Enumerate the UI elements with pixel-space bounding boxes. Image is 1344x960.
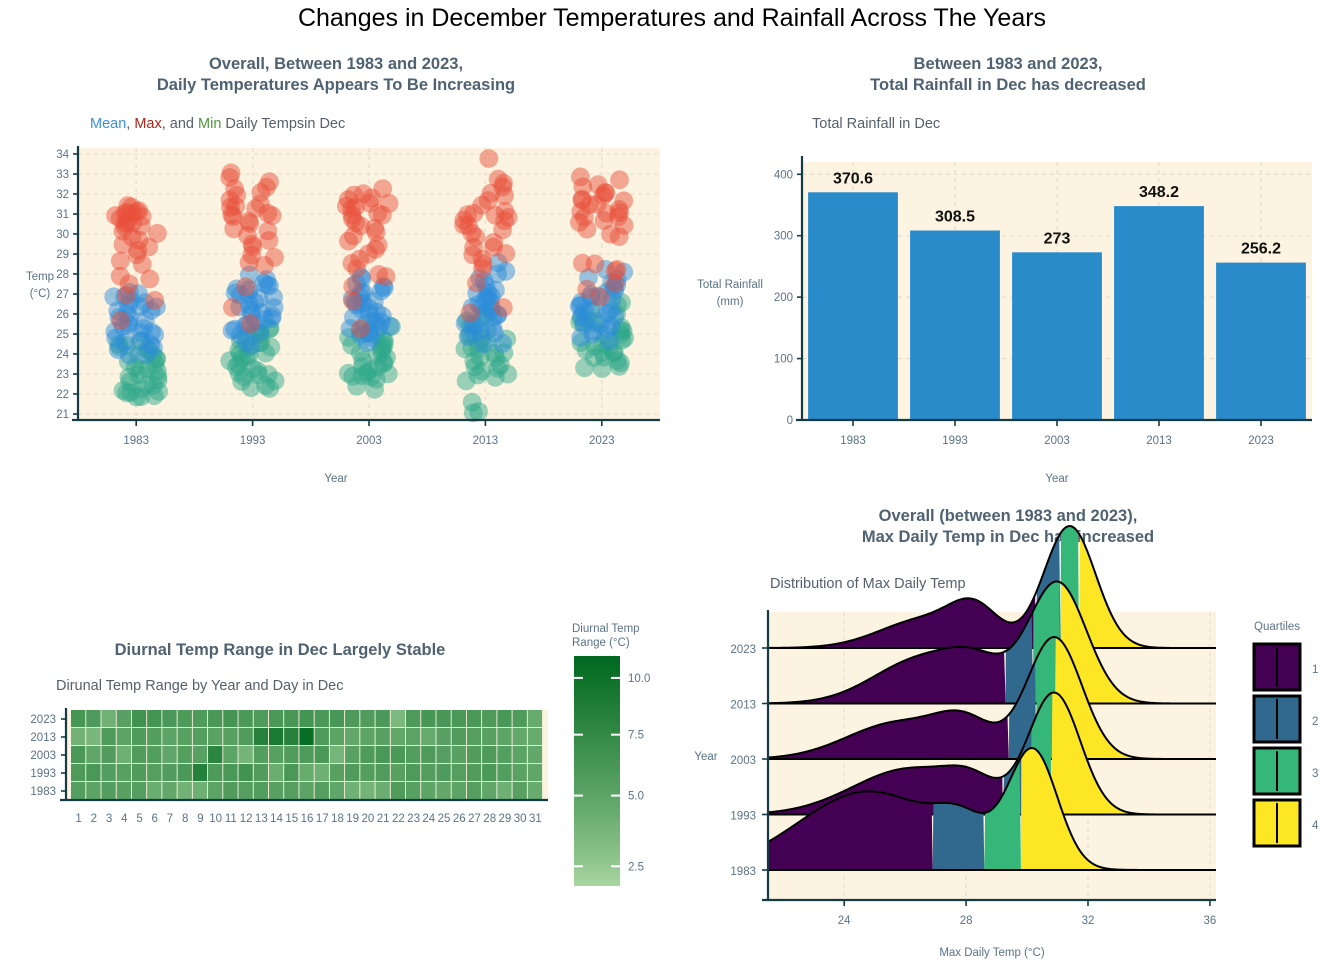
heatmap-x-axis-tick-label: 7: [167, 813, 173, 825]
heatmap-x-axis-tick-label: 14: [270, 813, 283, 825]
y-axis-tick-label: 31: [56, 209, 69, 221]
heatmap-chart[interactable]: 2023201320031993198312345678910111213141…: [0, 702, 560, 862]
heatmap-cell: [147, 728, 161, 745]
heatmap-x-axis-tick-label: 23: [407, 813, 420, 825]
quartile-legend-label: 1: [1312, 664, 1318, 676]
scatter-point-min: [486, 368, 505, 387]
heatmap-cell: [299, 782, 313, 799]
scatter-point-mean: [242, 336, 261, 355]
scatter-point-min: [127, 388, 146, 407]
heatmap-cell: [86, 710, 100, 727]
heatmap-x-axis-tick-label: 1: [75, 813, 81, 825]
heatmap-cell: [71, 782, 85, 799]
bar-value-label: 308.5: [935, 208, 975, 225]
x-axis-tick-label: 1993: [942, 435, 968, 447]
heatmap-x-axis-tick-label: 16: [301, 813, 314, 825]
heatmap-cell: [147, 710, 161, 727]
bar-value-label: 256.2: [1241, 241, 1281, 258]
heatmap-cell: [406, 746, 420, 763]
heatmap-x-axis-tick-label: 20: [362, 813, 375, 825]
scatter-point-min: [365, 380, 384, 399]
heatmap-cell: [330, 710, 344, 727]
heatmap-cell: [238, 764, 252, 781]
bar-y-axis-label: Total Rainfall: [697, 279, 763, 291]
x-axis-tick-label: 2023: [1248, 435, 1274, 447]
bar-value-label: 348.2: [1139, 184, 1179, 201]
scatter-point-max: [479, 149, 498, 168]
heatmap-cell: [117, 764, 131, 781]
bar-rect: [1216, 263, 1306, 420]
heatmap-cell: [71, 710, 85, 727]
x-axis-tick-label: 2003: [356, 435, 382, 447]
heatmap-cell: [162, 710, 176, 727]
scatter-point-max: [606, 274, 625, 293]
heatmap-cell: [269, 746, 283, 763]
heatmap-cell: [147, 746, 161, 763]
heatmap-cell: [406, 782, 420, 799]
heatmap-cell: [299, 728, 313, 745]
heatmap-x-axis-tick-label: 25: [438, 813, 451, 825]
heatmap-cell: [101, 746, 115, 763]
heatmap-cell: [360, 710, 374, 727]
heatmap-x-axis-tick-label: 28: [483, 813, 496, 825]
heatmap-cell: [406, 728, 420, 745]
heatmap-cell: [71, 728, 85, 745]
heatmap-cell: [178, 746, 192, 763]
quartiles-legend-title: Quartiles: [1254, 621, 1300, 633]
scatter-point-min: [457, 372, 476, 391]
heatmap-colorbar-legend[interactable]: Diurnal TempRange (°C)10.07.55.02.5: [572, 618, 672, 908]
heatmap-cell: [71, 764, 85, 781]
scatter-point-min: [242, 378, 261, 397]
heatmap-cell: [421, 746, 435, 763]
ridge-panel-subtitle: Distribution of Max Daily Temp: [770, 576, 966, 592]
heatmap-cell: [117, 710, 131, 727]
heatmap-x-axis-tick-label: 17: [316, 813, 329, 825]
ridge-y-axis-tick-label: 1993: [730, 811, 756, 823]
scatter-point-max: [140, 270, 159, 289]
heatmap-cell: [284, 728, 298, 745]
heatmap-x-axis-tick-label: 8: [182, 813, 188, 825]
heatmap-cell: [497, 746, 511, 763]
scatter-point-min: [347, 377, 366, 396]
scatter-y-axis-label: Temp: [26, 271, 54, 283]
subtitle-sep-2: , and: [162, 116, 198, 132]
heatmap-cell: [132, 782, 146, 799]
colorbar-title: Diurnal Temp: [572, 623, 640, 635]
heatmap-cell: [391, 764, 405, 781]
heatmap-cell: [269, 764, 283, 781]
heatmap-cell: [497, 782, 511, 799]
heatmap-cell: [330, 728, 344, 745]
scatter-point-max: [377, 267, 396, 286]
heatmap-y-axis-tick-label: 2013: [30, 732, 56, 744]
heatmap-x-axis-tick-label: 15: [285, 813, 298, 825]
heatmap-x-axis-tick-label: 30: [514, 813, 527, 825]
ridge-panel-title: Overall (between 1983 and 2023), Max Dai…: [722, 506, 1294, 548]
heatmap-cell: [528, 746, 542, 763]
subtitle-tail: Daily Tempsin Dec: [221, 116, 345, 132]
heatmap-x-axis-tick-label: 12: [240, 813, 253, 825]
bar-panel-subtitle: Total Rainfall in Dec: [812, 116, 940, 132]
ridge-y-axis-tick-label: 2023: [730, 644, 756, 656]
heatmap-cell: [360, 728, 374, 745]
heatmap-cell: [482, 728, 496, 745]
heatmap-cell: [284, 764, 298, 781]
y-axis-tick-label: 200: [774, 292, 793, 304]
scatter-point-max: [260, 231, 279, 250]
scatter-point-min: [610, 357, 629, 376]
heatmap-cell: [482, 710, 496, 727]
bar-rect: [1114, 206, 1204, 420]
ridge-y-axis-tick-label: 1983: [730, 866, 756, 878]
quartile-legend-label: 4: [1312, 820, 1319, 832]
y-axis-tick-label: 29: [56, 249, 69, 261]
ridge-y-axis-label: Year: [694, 751, 717, 763]
heatmap-cell: [376, 764, 390, 781]
scatter-point-min: [145, 386, 164, 405]
y-axis-tick-label: 23: [56, 369, 69, 381]
heatmap-cell: [254, 764, 268, 781]
panel-temperature-scatter: Overall, Between 1983 and 2023, Daily Te…: [0, 54, 672, 494]
heatmap-x-axis-tick-label: 21: [377, 813, 390, 825]
heatmap-cell: [208, 710, 222, 727]
x-axis-tick-label: 28: [960, 915, 973, 927]
colorbar-tick-label: 2.5: [628, 861, 644, 873]
scatter-panel-subtitle: Mean, Max, and Min Daily Tempsin Dec: [90, 116, 345, 132]
heatmap-cell: [360, 782, 374, 799]
heatmap-cell: [345, 764, 359, 781]
heatmap-cell: [86, 782, 100, 799]
bar-chart[interactable]: 370.6308.5273348.2256.201002003004001983…: [672, 140, 1344, 494]
scatter-y-axis-label-unit: (°C): [30, 288, 51, 300]
scatter-point-max: [344, 292, 363, 311]
heatmap-cell: [452, 746, 466, 763]
heatmap-cell: [436, 710, 450, 727]
scatter-point-max: [351, 319, 370, 338]
heatmap-cell: [315, 746, 329, 763]
y-axis-tick-label: 100: [774, 354, 793, 366]
heatmap-cell: [208, 746, 222, 763]
heatmap-cell: [421, 728, 435, 745]
heatmap-cell: [208, 764, 222, 781]
heatmap-cell: [345, 746, 359, 763]
heatmap-cell: [391, 728, 405, 745]
heatmap-x-axis-tick-label: 22: [392, 813, 405, 825]
colorbar-gradient: [574, 656, 620, 886]
heatmap-cell: [406, 764, 420, 781]
bar-rect: [808, 192, 898, 420]
heatmap-cell: [436, 782, 450, 799]
scatter-point-max: [339, 232, 358, 251]
heatmap-cell: [360, 746, 374, 763]
bar-x-axis-label: Year: [1045, 473, 1068, 485]
heatmap-cell: [376, 782, 390, 799]
heatmap-x-axis-tick-label: 31: [529, 813, 542, 825]
heatmap-cell: [101, 710, 115, 727]
heatmap-x-axis-tick-label: 29: [499, 813, 512, 825]
scatter-point-min: [260, 379, 279, 398]
heatmap-cell: [193, 782, 207, 799]
scatter-point-max: [591, 288, 610, 307]
x-axis-tick-label: 2003: [1044, 435, 1070, 447]
heatmap-cell: [86, 728, 100, 745]
heatmap-cell: [299, 746, 313, 763]
heatmap-cell: [452, 728, 466, 745]
heatmap-cell: [223, 728, 237, 745]
y-axis-tick-label: 34: [56, 149, 69, 161]
quartile-legend-label: 2: [1312, 716, 1318, 728]
scatter-point-max: [255, 256, 274, 275]
heatmap-cell: [421, 764, 435, 781]
heatmap-cell: [193, 710, 207, 727]
quartile-legend-label: 3: [1312, 768, 1318, 780]
scatter-point-max: [461, 304, 480, 323]
quartiles-legend[interactable]: Quartiles1234: [1232, 616, 1344, 876]
y-axis-tick-label: 21: [56, 409, 69, 421]
y-axis-tick-label: 400: [774, 169, 793, 181]
y-axis-tick-label: 25: [56, 329, 69, 341]
heatmap-cell: [208, 782, 222, 799]
heatmap-cell: [452, 782, 466, 799]
heatmap-cell: [71, 746, 85, 763]
heatmap-cell: [345, 782, 359, 799]
y-axis-tick-label: 24: [56, 349, 69, 361]
heatmap-cell: [147, 782, 161, 799]
heatmap-cell: [330, 764, 344, 781]
heatmap-x-axis-tick-label: 13: [255, 813, 268, 825]
heatmap-cell: [315, 710, 329, 727]
heatmap-y-axis-tick-label: 2023: [30, 714, 56, 726]
heatmap-cell: [391, 710, 405, 727]
heatmap-cell: [299, 710, 313, 727]
heatmap-cell: [238, 710, 252, 727]
heatmap-cell: [452, 764, 466, 781]
scatter-point-max: [236, 277, 255, 296]
y-axis-tick-label: 33: [56, 169, 69, 181]
heatmap-cell: [528, 782, 542, 799]
heatmap-cell: [193, 764, 207, 781]
heatmap-cell: [178, 728, 192, 745]
heatmap-x-axis-tick-label: 6: [152, 813, 158, 825]
y-axis-tick-label: 300: [774, 231, 793, 243]
heatmap-cell: [452, 710, 466, 727]
bar-panel-title: Between 1983 and 2023, Total Rainfall in…: [672, 54, 1344, 96]
heatmap-x-axis-tick-label: 5: [136, 813, 142, 825]
heatmap-cell: [482, 764, 496, 781]
heatmap-cell: [513, 728, 527, 745]
heatmap-cell: [132, 764, 146, 781]
scatter-point-max: [223, 298, 242, 317]
x-axis-tick-label: 24: [838, 915, 851, 927]
bar-rect: [1012, 252, 1102, 420]
scatter-point-max: [578, 220, 597, 239]
scatter-point-max: [241, 314, 260, 333]
heatmap-cell: [513, 746, 527, 763]
y-axis-tick-label: 30: [56, 229, 69, 241]
scatter-point-max: [610, 227, 629, 246]
y-axis-tick-label: 22: [56, 389, 69, 401]
scatter-point-max: [347, 259, 366, 278]
heatmap-cell: [86, 764, 100, 781]
heatmap-x-axis-tick-label: 24: [422, 813, 435, 825]
heatmap-cell: [391, 782, 405, 799]
scatter-point-mean: [120, 346, 139, 365]
ridgeline-chart[interactable]: 2023201320031993198324283236Max Daily Te…: [672, 600, 1232, 960]
heatmap-cell: [132, 746, 146, 763]
heatmap-cell: [162, 746, 176, 763]
x-axis-tick-label: 1983: [840, 435, 866, 447]
heatmap-x-axis-tick-label: 11: [225, 813, 237, 825]
scatter-point-mean: [137, 345, 156, 364]
heatmap-cell: [299, 764, 313, 781]
heatmap-cell: [254, 728, 268, 745]
heatmap-cell: [497, 710, 511, 727]
bar-value-label: 370.6: [833, 170, 873, 187]
heatmap-cell: [497, 728, 511, 745]
heatmap-cell: [467, 764, 481, 781]
heatmap-cell: [178, 764, 192, 781]
x-axis-tick-label: 36: [1204, 915, 1217, 927]
heatmap-cell: [132, 728, 146, 745]
heatmap-cell: [147, 764, 161, 781]
heatmap-cell: [254, 710, 268, 727]
heatmap-cell: [376, 710, 390, 727]
heatmap-cell: [482, 746, 496, 763]
heatmap-cell: [421, 782, 435, 799]
colorbar-tick-label: 5.0: [628, 791, 644, 803]
heatmap-x-axis-tick-label: 18: [331, 813, 344, 825]
heatmap-cell: [330, 746, 344, 763]
heatmap-cell: [269, 710, 283, 727]
heatmap-cell: [467, 746, 481, 763]
y-axis-tick-label: 32: [56, 189, 69, 201]
colorbar-tick-label: 10.0: [628, 673, 650, 685]
legend-mean-label: Mean: [90, 116, 126, 132]
heatmap-cell: [345, 710, 359, 727]
heatmap-cell: [193, 728, 207, 745]
scatter-point-min: [575, 358, 594, 377]
heatmap-y-axis-tick-label: 1983: [30, 786, 56, 798]
colorbar-title-unit: Range (°C): [572, 637, 630, 649]
heatmap-cell: [101, 728, 115, 745]
heatmap-x-axis-tick-label: 3: [106, 813, 112, 825]
heatmap-cell: [117, 728, 131, 745]
heatmap-cell: [513, 710, 527, 727]
y-axis-tick-label: 28: [56, 269, 69, 281]
heatmap-cell: [178, 782, 192, 799]
x-axis-tick-label: 2023: [589, 435, 615, 447]
heatmap-x-axis-tick-label: 2: [91, 813, 97, 825]
dashboard-title: Changes in December Temperatures and Rai…: [0, 4, 1344, 33]
bar-y-axis-label-unit: (mm): [717, 296, 744, 308]
scatter-point-mean: [474, 335, 493, 354]
heatmap-cell: [101, 782, 115, 799]
legend-min-label: Min: [198, 116, 221, 132]
x-axis-tick-label: 2013: [1146, 435, 1172, 447]
heatmap-y-axis-tick-label: 1993: [30, 768, 56, 780]
scatter-point-max: [586, 255, 605, 274]
heatmap-cell: [284, 710, 298, 727]
heatmap-cell: [467, 782, 481, 799]
heatmap-cell: [436, 764, 450, 781]
scatter-plot[interactable]: 2122232425262728293031323334198319932003…: [0, 140, 672, 494]
heatmap-cell: [436, 746, 450, 763]
scatter-point-mean: [571, 328, 590, 347]
heatmap-y-axis-tick-label: 2003: [30, 750, 56, 762]
heatmap-x-axis-tick-label: 26: [453, 813, 466, 825]
heatmap-cell: [284, 782, 298, 799]
ridge-x-axis-label: Max Daily Temp (°C): [939, 947, 1045, 959]
scatter-x-axis-label: Year: [324, 473, 347, 485]
heatmap-cell: [315, 782, 329, 799]
heatmap-cell: [193, 746, 207, 763]
heatmap-cell: [421, 710, 435, 727]
heatmap-cell: [101, 764, 115, 781]
heatmap-cell: [467, 728, 481, 745]
heatmap-cell: [162, 728, 176, 745]
heatmap-x-axis-tick-label: 27: [468, 813, 481, 825]
heatmap-cell: [162, 764, 176, 781]
heatmap-cell: [330, 782, 344, 799]
bar-value-label: 273: [1044, 230, 1071, 247]
heatmap-cell: [117, 782, 131, 799]
heatmap-cell: [254, 782, 268, 799]
heatmap-cell: [376, 746, 390, 763]
heatmap-cell: [406, 710, 420, 727]
heatmap-x-axis-tick-label: 10: [209, 813, 222, 825]
heatmap-cell: [223, 710, 237, 727]
heatmap-cell: [376, 728, 390, 745]
scatter-point-min: [593, 359, 612, 378]
legend-max-label: Max: [134, 116, 161, 132]
heatmap-cell: [178, 710, 192, 727]
scatter-point-max: [467, 274, 486, 293]
heatmap-cell: [467, 710, 481, 727]
heatmap-cell: [436, 728, 450, 745]
x-axis-tick-label: 32: [1082, 915, 1095, 927]
y-axis-tick-label: 26: [56, 309, 69, 321]
heatmap-cell: [528, 764, 542, 781]
heatmap-cell: [315, 728, 329, 745]
panel-maxtemp-ridgeline: Overall (between 1983 and 2023), Max Dai…: [672, 506, 1344, 960]
x-axis-tick-label: 1993: [240, 435, 266, 447]
heatmap-cell: [223, 746, 237, 763]
heatmap-cell: [513, 764, 527, 781]
heatmap-cell: [528, 710, 542, 727]
scatter-point-max: [496, 244, 515, 263]
colorbar-tick-label: 7.5: [628, 730, 644, 742]
heatmap-cell: [345, 728, 359, 745]
heatmap-cell: [223, 764, 237, 781]
scatter-panel-title: Overall, Between 1983 and 2023, Daily Te…: [0, 54, 672, 96]
heatmap-cell: [497, 764, 511, 781]
heatmap-cell: [391, 746, 405, 763]
heatmap-x-axis-tick-label: 4: [121, 813, 128, 825]
y-axis-tick-label: 0: [787, 415, 793, 427]
heatmap-cell: [284, 746, 298, 763]
scatter-point-max: [117, 286, 136, 305]
heatmap-cell: [315, 764, 329, 781]
bar-rect: [910, 231, 1000, 421]
heatmap-cell: [269, 728, 283, 745]
scatter-point-max: [494, 298, 513, 317]
x-axis-tick-label: 1983: [123, 435, 149, 447]
heatmap-cell: [132, 710, 146, 727]
heatmap-cell: [86, 746, 100, 763]
heatmap-cell: [238, 728, 252, 745]
x-axis-tick-label: 2013: [473, 435, 499, 447]
